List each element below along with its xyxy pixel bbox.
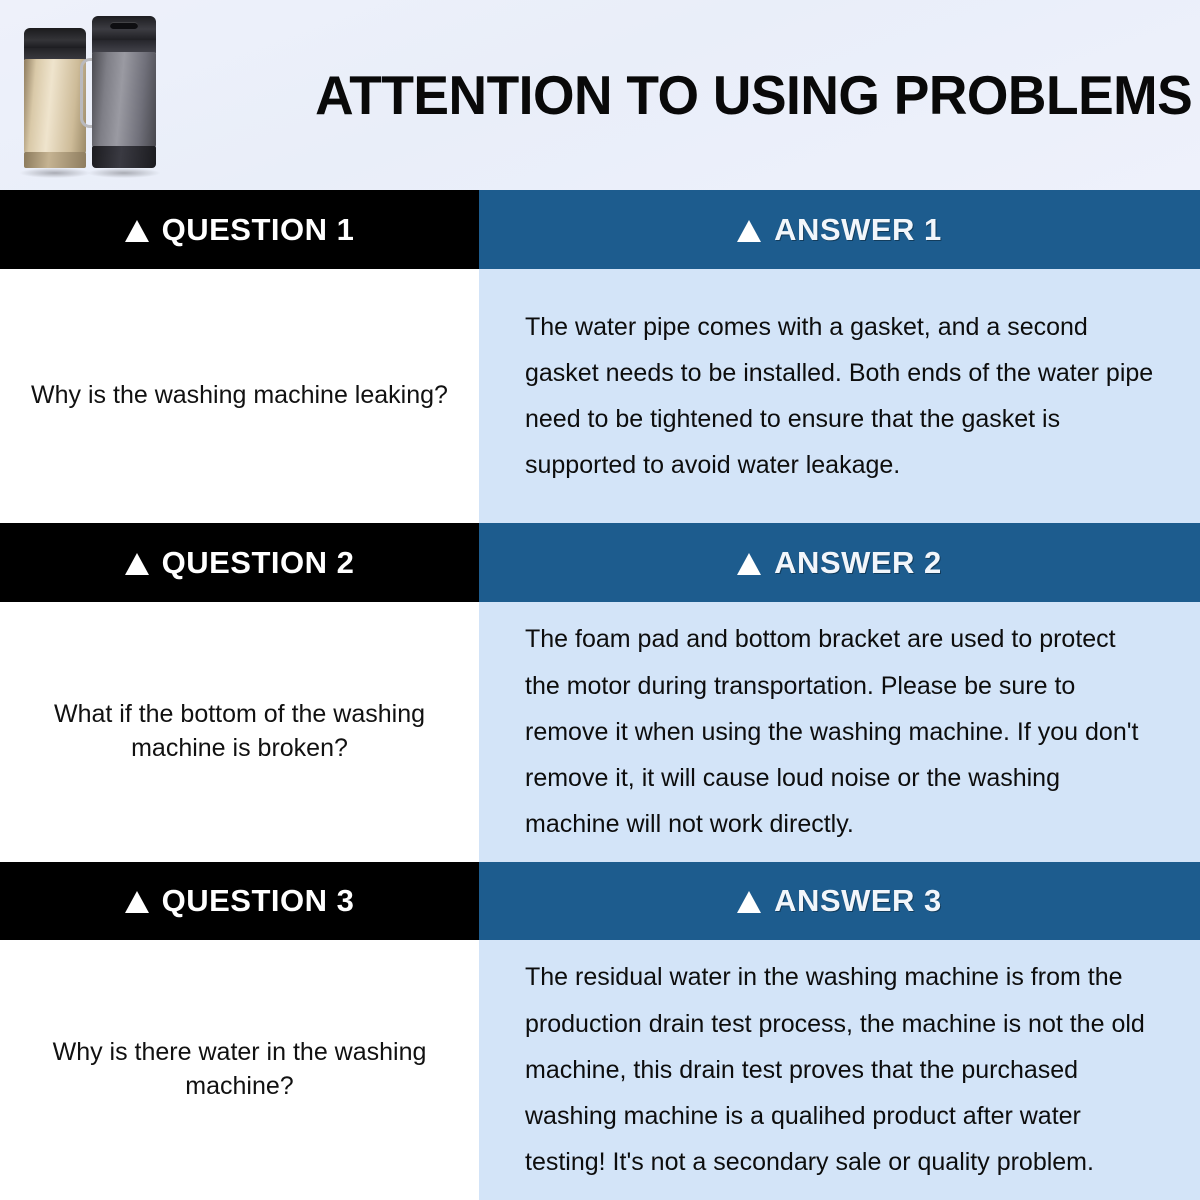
question-1-header-label: QUESTION 1 [125,212,355,248]
triangle-icon [737,891,761,913]
page-title: ATTENTION TO USING PROBLEMS [240,68,1200,123]
answer-2-header-label: ANSWER 2 [737,545,942,581]
machine-body [24,59,86,154]
answer-1-header-label: ANSWER 1 [737,212,942,248]
machine-base [24,152,86,168]
answer-3-body: The residual water in the washing machin… [479,940,1200,1200]
triangle-icon [737,553,761,575]
question-1-text: Why is the washing machine leaking? [31,379,448,413]
machine-lid-handle [110,22,138,29]
machine-shadow [88,168,160,178]
faq-content-row-2: What if the bottom of the washing machin… [0,602,1200,862]
question-3-header-label: QUESTION 3 [125,883,355,919]
answer-2-body: The foam pad and bottom bracket are used… [479,602,1200,862]
question-2-body: What if the bottom of the washing machin… [0,602,479,862]
answer-1-body: The water pipe comes with a gasket, and … [479,269,1200,523]
faq-infographic: ATTENTION TO USING PROBLEMS QUESTION 1 A… [0,0,1200,1200]
answer-3-text: The residual water in the washing machin… [525,954,1154,1185]
faq-header-row-1: QUESTION 1 ANSWER 1 [0,190,1200,269]
answer-1-header[interactable]: ANSWER 1 [479,190,1200,269]
question-3-header[interactable]: QUESTION 3 [0,862,479,940]
answer-3-header[interactable]: ANSWER 3 [479,862,1200,940]
question-1-header[interactable]: QUESTION 1 [0,190,479,269]
washing-machine-gold-image [24,28,86,168]
question-2-header[interactable]: QUESTION 2 [0,523,479,602]
triangle-icon [125,891,149,913]
question-2-header-label: QUESTION 2 [125,545,355,581]
machine-lid [24,28,86,50]
answer-2-header[interactable]: ANSWER 2 [479,523,1200,602]
faq-header-row-3: QUESTION 3 ANSWER 3 [0,862,1200,940]
machine-lid [92,16,156,42]
triangle-icon [125,553,149,575]
faq-content-row-1: Why is the washing machine leaking? The … [0,269,1200,523]
answer-1-text: The water pipe comes with a gasket, and … [525,304,1154,489]
question-1-body: Why is the washing machine leaking? [0,269,479,523]
answer-3-header-label: ANSWER 3 [737,883,942,919]
triangle-icon [737,220,761,242]
answer-2-text: The foam pad and bottom bracket are used… [525,616,1154,847]
faq-content-row-3: Why is there water in the washing machin… [0,940,1200,1200]
machine-base [92,146,156,168]
machine-body [92,52,156,148]
question-2-text: What if the bottom of the washing machin… [28,698,451,766]
faq-header-row-2: QUESTION 2 ANSWER 2 [0,523,1200,602]
question-3-text: Why is there water in the washing machin… [28,1036,451,1104]
header-banner: ATTENTION TO USING PROBLEMS [0,0,1200,190]
washing-machine-grey-image [92,16,156,168]
question-3-body: Why is there water in the washing machin… [0,940,479,1200]
product-image-group [0,0,210,190]
machine-shadow [20,168,90,178]
triangle-icon [125,220,149,242]
